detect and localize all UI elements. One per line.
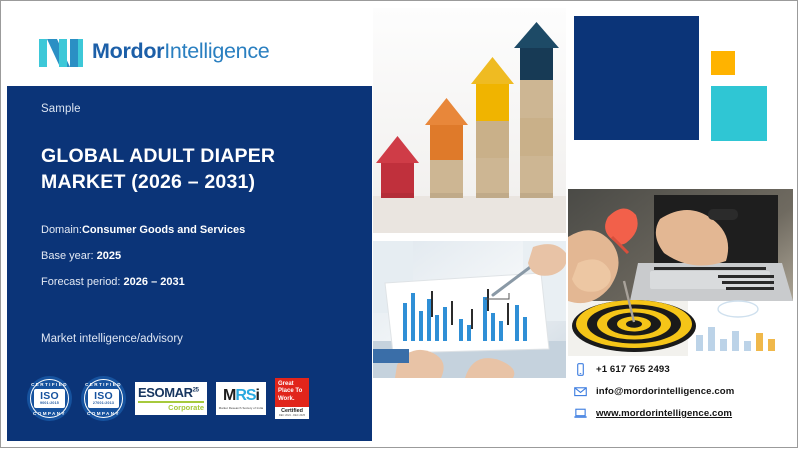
report-metadata: Domain:Consumer Goods and Services Base … [41,224,351,303]
chart-report-review-illustration [373,241,566,378]
wooden-block-houses-growth-photo [373,8,566,233]
business-meeting-chart-review-photo [373,241,566,378]
gptw-lines: Great Place To Work. [275,378,309,407]
mrsi-m: M [223,387,235,404]
mrsi-sub: Market Research Society of India [219,406,263,410]
color-blocks-icon [568,8,793,186]
esomar-wordmark: ESOMAR25 [138,386,204,399]
meta-label-forecast-period: Forecast period: [41,276,120,288]
contact-details: +1 617 765 2493 info@mordorintelligence.… [574,363,789,429]
contact-phone-row[interactable]: +1 617 765 2493 [574,363,789,376]
iso-badge2-main: ISO [94,391,113,402]
iso-certified-company-badge: CERTIFIED ISO 9001:2015 COMPANY [27,376,72,421]
iso-badge-arc-bottom: COMPANY [27,411,72,416]
mrsi-wordmark: MRSi [223,388,259,404]
certification-badges: CERTIFIED ISO 9001:2015 COMPANY CERTIFIE… [27,376,309,421]
brand-header: MordorIntelligence [1,1,371,86]
sample-label: Sample [41,103,81,115]
iso-badge2-core: ISO 27001:2013 [88,389,119,408]
phone-icon [574,363,587,376]
brand-name-light: Intelligence [164,39,269,63]
meta-value-domain: Consumer Goods and Services [82,224,245,236]
wooden-block-houses-illustration [373,8,566,233]
esomar-corporate-badge: ESOMAR25 Corporate [135,382,207,415]
contact-phone-text: +1 617 765 2493 [596,364,670,375]
mrsi-badge: MRSi Market Research Society of India [216,382,266,415]
contact-website-text: www.mordorintelligence.com [596,408,732,419]
meta-label-domain: Domain: [41,224,82,236]
meta-value-forecast-period: 2026 – 2031 [124,276,185,288]
iso-badge2-standard: 27001:2013 [93,402,114,406]
meta-value-base-year: 2025 [97,250,121,262]
meta-row-domain: Domain:Consumer Goods and Services [41,224,351,237]
iso-badge2-arc-top: CERTIFIED [81,382,126,387]
gptw-period: DEC 2024 - DEC 2025 [275,414,309,417]
dart-target-laptop-photo [568,189,793,356]
mrsi-rs: RS [235,387,255,404]
brand-name-bold: Mordor [92,39,164,63]
page-title: GLOBAL ADULT DIAPER MARKET (2026 – 2031) [41,143,341,196]
great-place-to-work-badge: Great Place To Work. Certified DEC 2024 … [275,378,309,419]
esomar-sup: 25 [193,388,199,394]
contact-email-row[interactable]: info@mordorintelligence.com [574,385,789,398]
meta-label-base-year: Base year: [41,250,94,262]
iso-badge-core: ISO 9001:2015 [34,389,65,408]
iso-badge-main: ISO [40,391,59,402]
envelope-icon [574,385,587,398]
mrsi-i: i [256,387,259,404]
report-info-panel: Sample GLOBAL ADULT DIAPER MARKET (2026 … [7,86,372,441]
laptop-icon [574,407,587,420]
iso-certified-company-badge-2: CERTIFIED ISO 27001:2013 COMPANY [81,376,126,421]
iso-badge-standard: 9001:2015 [40,402,59,406]
contact-website-row[interactable]: www.mordorintelligence.com [574,407,789,420]
color-swatch-decoration [568,8,793,186]
mordor-intelligence-logo[interactable]: MordorIntelligence [39,37,269,67]
meta-row-base-year: Base year: 2025 [41,250,351,263]
iso-badge2-arc-bottom: COMPANY [81,411,126,416]
dart-target-illustration [568,189,793,356]
iso-badge-arc-top: CERTIFIED [27,382,72,387]
contact-email-text: info@mordorintelligence.com [596,386,734,397]
meta-row-forecast-period: Forecast period: 2026 – 2031 [41,276,351,289]
esomar-sub: Corporate [138,404,204,412]
gptw-footer: Certified DEC 2024 - DEC 2025 [275,407,309,419]
mordor-m-logo-icon [39,37,83,67]
brand-wordmark: MordorIntelligence [92,41,269,63]
tagline: Market intelligence/advisory [41,333,183,345]
report-cover-page: MordorIntelligence Sample GLOBAL ADULT D… [0,0,798,448]
esomar-main: ESOMAR [138,385,193,400]
